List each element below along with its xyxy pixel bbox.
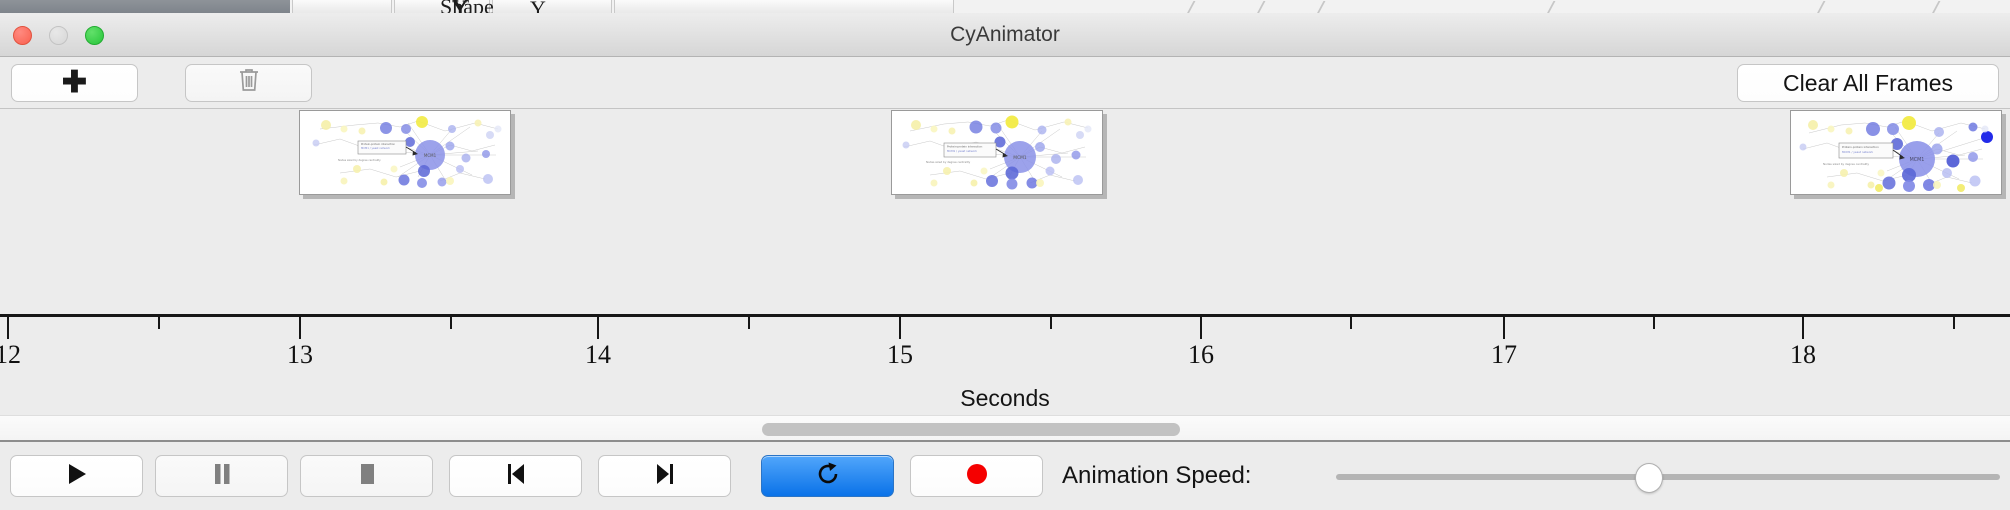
loop-icon — [815, 461, 841, 492]
scrollbar-thumb[interactable] — [762, 423, 1180, 436]
axis-tick-label: 14 — [585, 340, 611, 370]
title-bar[interactable]: CyAnimator — [0, 13, 2010, 57]
axis-tick-major — [899, 317, 901, 339]
skip-to-start-button[interactable] — [449, 455, 582, 497]
keyframe-thumbnail-3[interactable]: MCM1 Protein-protein interaction MCM1 / … — [1790, 110, 2002, 195]
axis-tick-label: 16 — [1188, 340, 1214, 370]
plus-icon: ✚ — [62, 68, 87, 98]
keyframe-thumbnail-1[interactable]: MCM1 Protein-protein interaction MCM1 / … — [299, 110, 511, 195]
slider-thumb[interactable] — [1635, 463, 1663, 493]
axis-tick-minor — [1050, 317, 1052, 329]
record-icon — [965, 462, 989, 491]
network-preview: MCM1 Protein-protein interaction MCM1 / … — [300, 111, 510, 194]
axis-tick-major — [1200, 317, 1202, 339]
axis-tick-major — [1503, 317, 1505, 339]
clear-all-frames-button[interactable]: Clear All Frames — [1737, 64, 1999, 102]
network-preview: MCM1 Protein-protein interaction MCM1 / … — [892, 111, 1102, 194]
background-tab — [492, 0, 612, 14]
transport-bar: Animation Speed: — [0, 444, 2010, 510]
trash-icon — [237, 67, 261, 99]
background-tab — [292, 0, 392, 14]
axis-tick-label: 13 — [287, 340, 313, 370]
keyframe-thumbnail-2[interactable]: MCM1 Protein-protein interaction MCM1 / … — [891, 110, 1103, 195]
axis-tick-major — [7, 317, 9, 339]
axis-tick-major — [597, 317, 599, 339]
background-tab — [614, 0, 954, 14]
axis-line — [0, 314, 2010, 317]
clear-all-frames-label: Clear All Frames — [1783, 70, 1953, 97]
svg-text:MCM1 / yeast network: MCM1 / yeast network — [947, 149, 977, 153]
animation-speed-label: Animation Speed: — [1062, 455, 1251, 497]
background-shape-label: Shape — [440, 0, 494, 14]
keyframe-strip: MCM1 Protein-protein interaction MCM1 / … — [0, 110, 2010, 305]
axis-tick-major — [299, 317, 301, 339]
axis-tick-label: 18 — [1790, 340, 1816, 370]
skip-back-icon — [505, 462, 527, 491]
animation-speed-slider[interactable] — [1336, 455, 2000, 497]
svg-text:Nodes sized by degree centrali: Nodes sized by degree centrality — [1823, 162, 1869, 166]
skip-forward-icon — [654, 462, 676, 491]
keyframe-thumbnail-image: MCM1 Protein-protein interaction MCM1 / … — [299, 110, 511, 195]
axis-tick-label: 15 — [887, 340, 913, 370]
time-axis[interactable]: 12131415161718 Seconds — [0, 305, 2010, 415]
axis-tick-minor — [158, 317, 160, 329]
svg-text:MCM1 / yeast network: MCM1 / yeast network — [1842, 150, 1874, 154]
svg-text:Protein-protein interaction: Protein-protein interaction — [1842, 145, 1879, 149]
background-window-strip: Y Y Y Ƴ Shape — [0, 0, 2010, 14]
stop-button[interactable] — [300, 455, 433, 497]
svg-text:MCM1: MCM1 — [1910, 157, 1925, 163]
background-dark-tab — [0, 0, 290, 13]
loop-button[interactable] — [761, 455, 894, 497]
axis-title: Seconds — [0, 385, 2010, 412]
axis-tick-label: 17 — [1491, 340, 1517, 370]
delete-frame-button[interactable] — [185, 64, 312, 102]
pause-icon — [212, 462, 232, 491]
timeline-panel[interactable]: MCM1 Protein-protein interaction MCM1 / … — [0, 110, 2010, 415]
window-title: CyAnimator — [0, 13, 2010, 57]
network-preview: MCM1 Protein-protein interaction MCM1 / … — [1791, 111, 2001, 194]
add-frame-button[interactable]: ✚ — [11, 64, 138, 102]
svg-text:Protein-protein interaction: Protein-protein interaction — [361, 142, 395, 146]
skip-to-end-button[interactable] — [598, 455, 731, 497]
axis-tick-minor — [1653, 317, 1655, 329]
keyframe-thumbnail-image: MCM1 Protein-protein interaction MCM1 / … — [891, 110, 1103, 195]
record-button[interactable] — [910, 455, 1043, 497]
play-button[interactable] — [10, 455, 143, 497]
axis-tick-minor — [450, 317, 452, 329]
axis-tick-minor — [1350, 317, 1352, 329]
pause-button[interactable] — [155, 455, 288, 497]
axis-tick-minor — [748, 317, 750, 329]
svg-text:MCM1: MCM1 — [424, 153, 437, 158]
axis-tick-major — [1802, 317, 1804, 339]
svg-text:Protein-protein interaction: Protein-protein interaction — [947, 145, 983, 149]
svg-text:Nodes sized by degree centrali: Nodes sized by degree centrality — [926, 160, 971, 164]
keyframe-thumbnail-image: MCM1 Protein-protein interaction MCM1 / … — [1790, 110, 2002, 195]
stop-icon — [357, 462, 377, 491]
svg-text:MCM1 / yeast network: MCM1 / yeast network — [361, 146, 390, 150]
svg-text:Nodes sized by degree centrali: Nodes sized by degree centrality — [338, 158, 381, 162]
play-icon — [66, 462, 88, 491]
slider-track[interactable] — [1336, 474, 2000, 480]
axis-tick-minor — [1953, 317, 1955, 329]
axis-tick-label: 12 — [0, 340, 21, 370]
cyanimator-window: Y Y Y Ƴ Shape CyAnimator ✚ — [0, 0, 2010, 510]
toolbar: ✚ Clear All Frames — [0, 57, 2010, 109]
background-glyph: Y — [530, 0, 546, 14]
svg-text:MCM1: MCM1 — [1013, 155, 1027, 161]
timeline-horizontal-scrollbar[interactable] — [0, 415, 2010, 442]
